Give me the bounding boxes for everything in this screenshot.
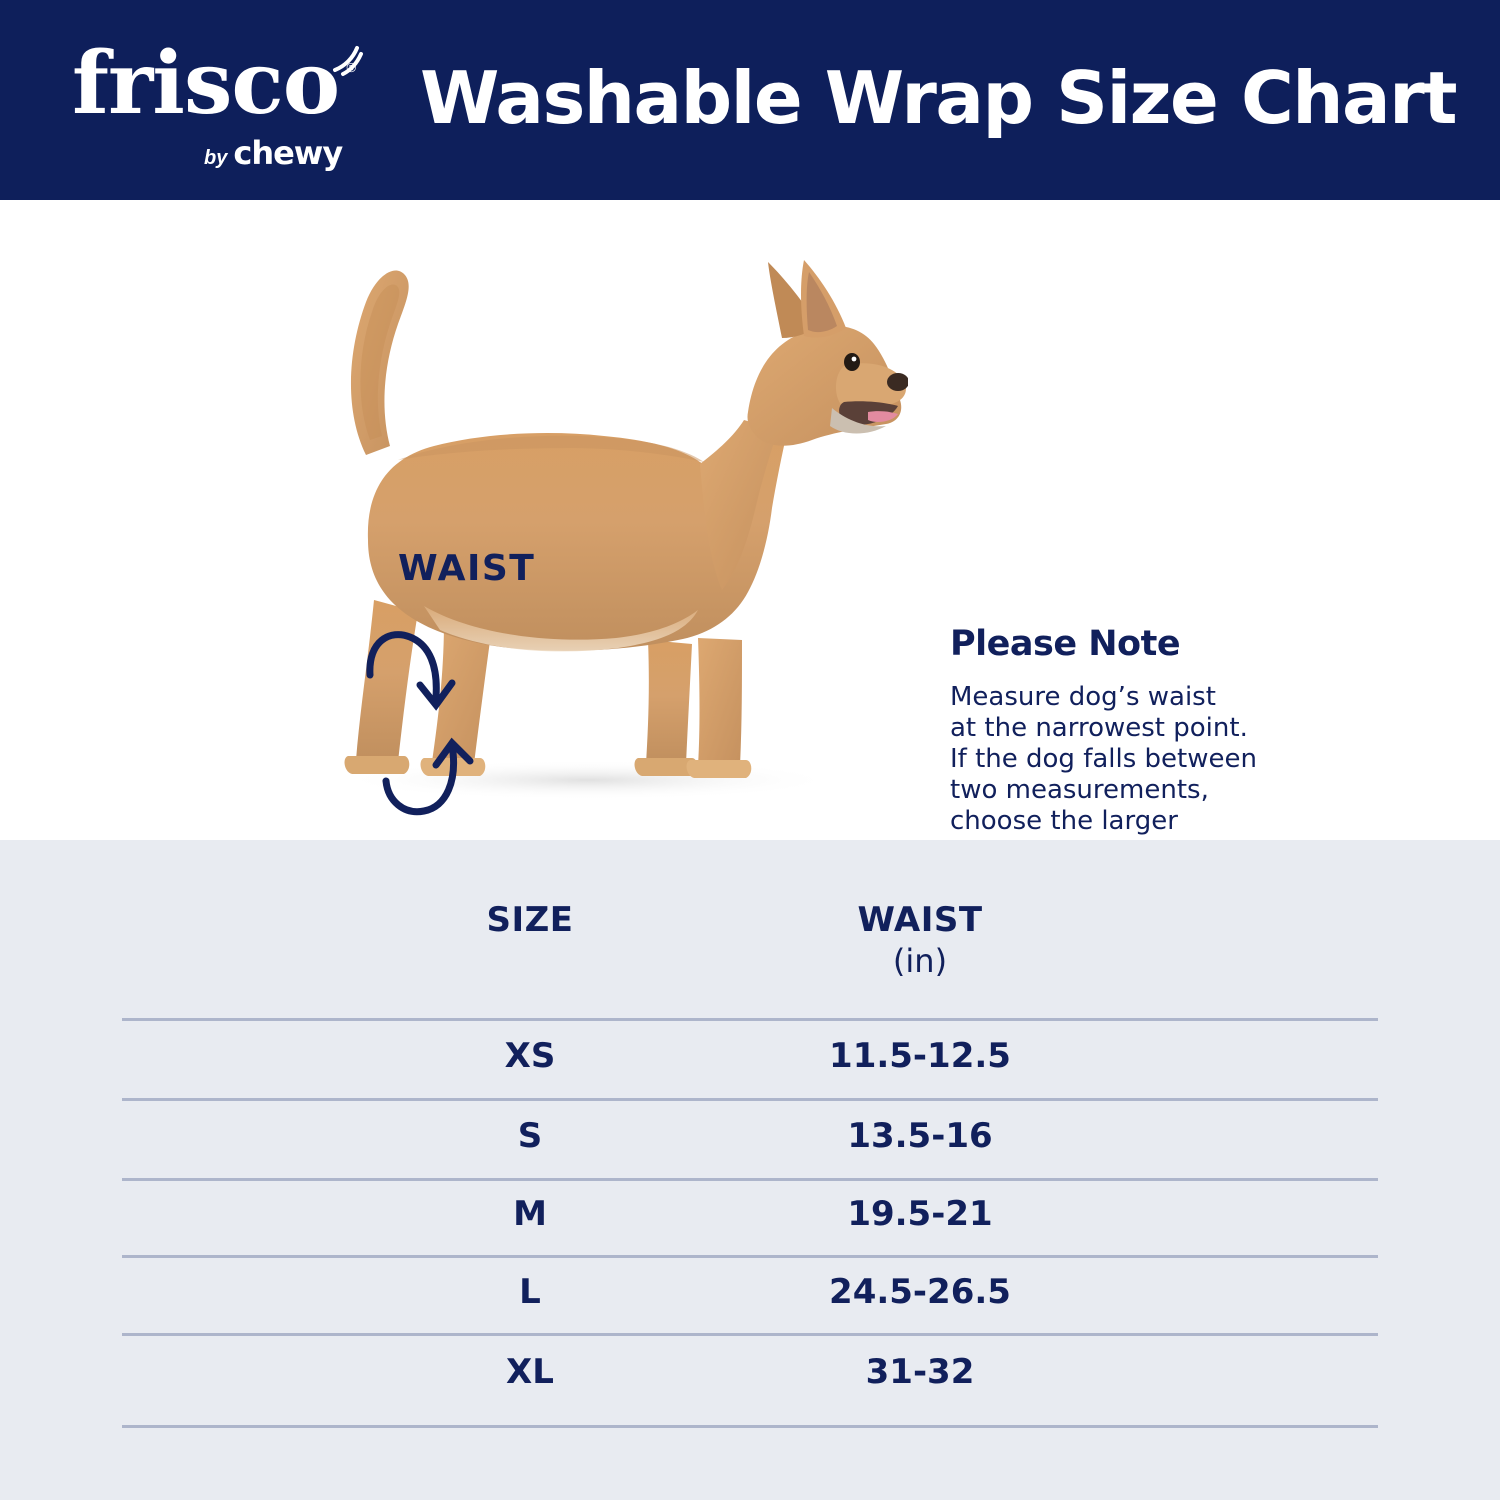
please-note-block: Please Note Measure dog’s waist at the n…: [950, 624, 1350, 868]
frisco-wordmark: frisco ®: [72, 38, 339, 130]
column-header-size: SIZE: [330, 900, 730, 940]
dog-front-leg-near: [698, 638, 742, 766]
column-header-size-label: SIZE: [486, 900, 573, 940]
waist-arrow-up: [386, 743, 470, 812]
frisco-wordmark-text: frisco: [72, 33, 339, 134]
cell-waist: 11.5-12.5: [720, 1036, 1120, 1076]
dog-nose: [887, 373, 908, 391]
swoosh-icon: [331, 44, 365, 78]
please-note-title: Please Note: [950, 624, 1350, 664]
illustration-band: WAIST Please Note Measure dog’s waist at…: [0, 200, 1500, 840]
dog-front-leg-far: [646, 640, 692, 764]
waist-arrow-down: [370, 635, 452, 705]
column-header-waist-unit: (in): [720, 942, 1120, 980]
cell-size: S: [330, 1116, 730, 1156]
dog-photo: [248, 240, 908, 810]
table-row: S 13.5-16: [0, 1116, 1500, 1194]
table-row: L 24.5-26.5: [0, 1272, 1500, 1350]
dog-illustration: [248, 240, 908, 810]
column-header-waist: WAIST (in): [720, 900, 1120, 980]
page-title: Washable Wrap Size Chart: [420, 44, 1456, 152]
waist-label: WAIST: [398, 548, 535, 589]
paw-4: [687, 760, 752, 778]
cell-size: M: [330, 1194, 730, 1234]
column-header-waist-label: WAIST: [857, 900, 982, 940]
page-header: frisco ® by chewy Washable Wrap Size Cha…: [0, 0, 1500, 200]
cell-waist: 19.5-21: [720, 1194, 1120, 1234]
cell-waist: 24.5-26.5: [720, 1272, 1120, 1312]
table-row: M 19.5-21: [0, 1194, 1500, 1272]
table-row: XL 31-32: [0, 1352, 1500, 1430]
table-divider-top: [122, 1018, 1378, 1021]
frisco-byline: by chewy: [204, 134, 342, 172]
dog-eye-glint: [852, 357, 857, 362]
size-table: SIZE WAIST (in) XS 11.5-12.5 S 13.5-16 M…: [0, 840, 1500, 1500]
cell-size: XL: [330, 1352, 730, 1392]
chewy-wordmark: chewy: [233, 134, 342, 172]
table-row: XS 11.5-12.5: [0, 1036, 1500, 1114]
frisco-logo: frisco ® by chewy: [72, 38, 382, 166]
cell-size: L: [330, 1272, 730, 1312]
cell-waist: 31-32: [720, 1352, 1120, 1392]
dog-eye: [844, 353, 860, 371]
cell-waist: 13.5-16: [720, 1116, 1120, 1156]
size-chart-page: frisco ® by chewy Washable Wrap Size Cha…: [0, 0, 1500, 1500]
waist-arrows: [360, 585, 500, 835]
byline-prefix: by: [204, 147, 227, 170]
cell-size: XS: [330, 1036, 730, 1076]
